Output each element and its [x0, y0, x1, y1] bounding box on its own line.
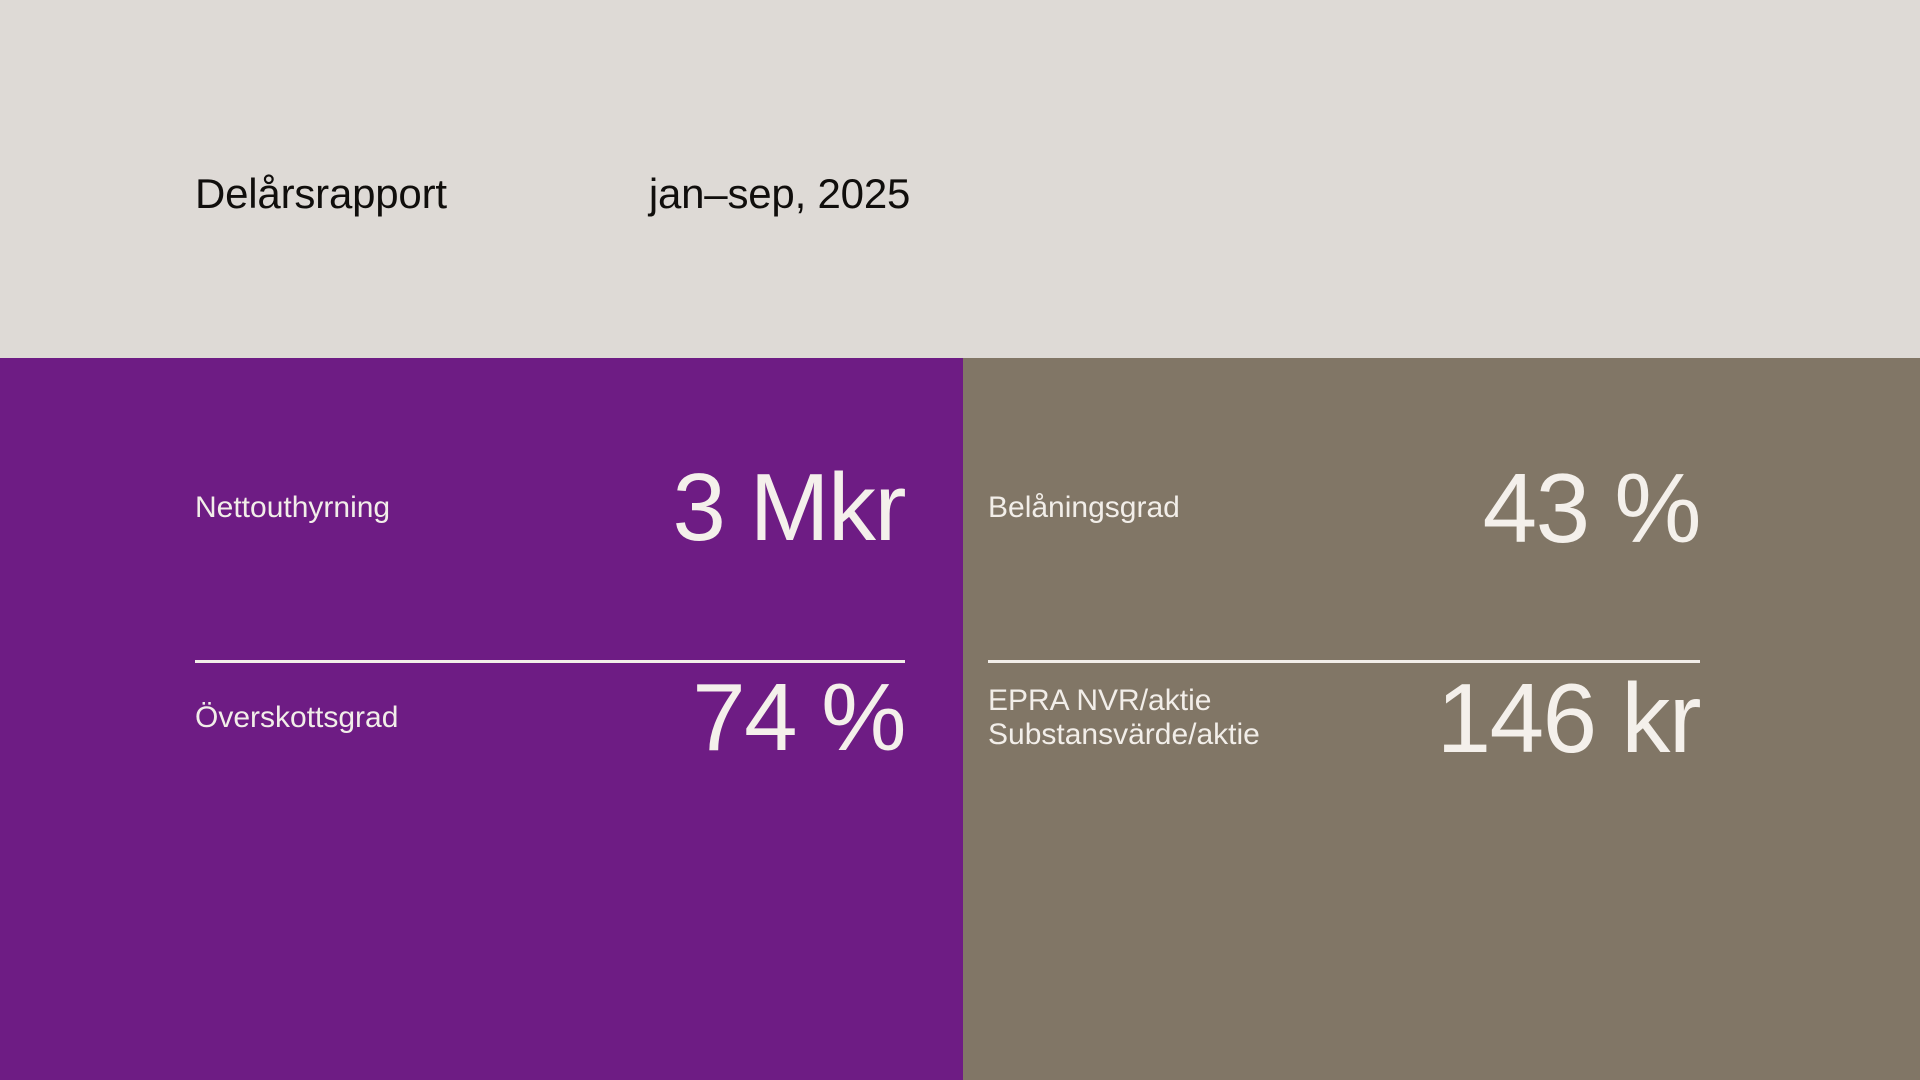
metric-value: 3 Mkr [673, 460, 906, 556]
metric-label-line1: EPRA NVR/aktie [988, 684, 1260, 718]
key-figures-panels: Nettouthyrning 3 Mkr Överskottsgrad 74 %… [0, 358, 1920, 1080]
panel-operations-body: Nettouthyrning 3 Mkr Överskottsgrad 74 % [0, 358, 963, 1080]
metric-nettouthyrning: Nettouthyrning 3 Mkr [195, 433, 905, 583]
header-content: Delårsrapport jan–sep, 2025 [195, 170, 910, 218]
report-key-figures-page: Delårsrapport jan–sep, 2025 Nettouthyrni… [0, 0, 1920, 1080]
report-period: jan–sep, 2025 [649, 170, 910, 218]
metric-value: 74 % [692, 670, 905, 766]
panel-operations: Nettouthyrning 3 Mkr Överskottsgrad 74 % [0, 358, 963, 1080]
metric-label: Belåningsgrad [988, 491, 1180, 525]
metric-label-line2: Substansvärde/aktie [988, 718, 1260, 752]
panel-financial: Belåningsgrad 43 % EPRA NVR/aktie Substa… [963, 358, 1920, 1080]
panel-financial-body: Belåningsgrad 43 % EPRA NVR/aktie Substa… [963, 358, 1920, 1080]
metric-value: 43 % [1483, 459, 1700, 557]
metric-overskottsgrad: Överskottsgrad 74 % [195, 643, 905, 793]
metric-epra-nvr-per-aktie: EPRA NVR/aktie Substansvärde/aktie 146 k… [988, 643, 1700, 793]
metric-value: 146 kr [1437, 669, 1700, 767]
metric-belaningsgrad: Belåningsgrad 43 % [988, 433, 1700, 583]
page-title: Delårsrapport [195, 170, 447, 218]
metric-label: Nettouthyrning [195, 491, 390, 525]
metric-label: EPRA NVR/aktie Substansvärde/aktie [988, 684, 1260, 751]
metric-label-line1: Belåningsgrad [988, 491, 1180, 524]
metric-label: Överskottsgrad [195, 701, 398, 735]
page-header: Delårsrapport jan–sep, 2025 [0, 0, 1920, 358]
